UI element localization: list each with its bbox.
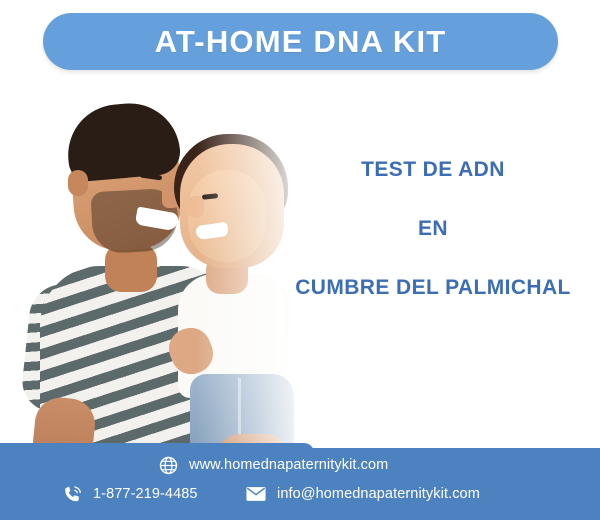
- headline-block: TEST DE ADN EN CUMBRE DEL PALMICHAL: [272, 158, 594, 300]
- footer-contact-bar: www.homednapaternitykit.com 1-877-219-44…: [0, 443, 600, 520]
- dna-kit-promo-banner: AT-HOME DNA KIT TEST DE ADN EN CUMBRE: [0, 0, 600, 520]
- phone-icon: [62, 484, 82, 504]
- headline-line-1: TEST DE ADN: [272, 158, 594, 182]
- photo-edge-fade: [10, 78, 310, 456]
- footer-phone-text: 1-877-219-4485: [93, 486, 198, 502]
- family-photo: [10, 78, 310, 456]
- headline-line-2: EN: [272, 217, 594, 241]
- envelope-icon: [246, 484, 266, 504]
- footer-email-text: info@homednapaternitykit.com: [277, 486, 480, 502]
- footer-website-text: www.homednapaternitykit.com: [189, 457, 388, 473]
- footer-website[interactable]: www.homednapaternitykit.com: [158, 455, 388, 475]
- globe-icon: [158, 455, 178, 475]
- footer-email[interactable]: info@homednapaternitykit.com: [246, 484, 480, 504]
- headline-line-3: CUMBRE DEL PALMICHAL: [272, 276, 594, 300]
- footer-phone[interactable]: 1-877-219-4485: [62, 484, 198, 504]
- banner-title-pill: AT-HOME DNA KIT: [43, 13, 558, 70]
- page-title: AT-HOME DNA KIT: [155, 24, 447, 60]
